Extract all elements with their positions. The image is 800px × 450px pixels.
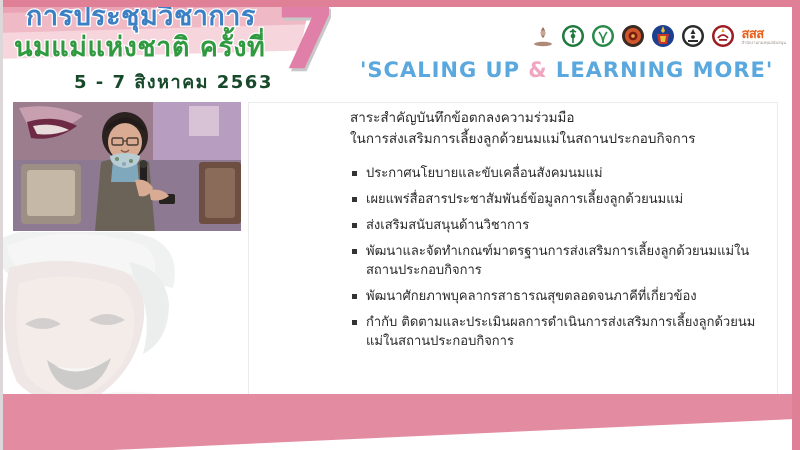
logo-royal-seal-icon bbox=[531, 24, 555, 48]
frame-border-top bbox=[0, 0, 800, 7]
footer-decorative-band bbox=[0, 394, 800, 450]
content-lead-line2: ในการส่งเสริมการเลี้ยงลูกด้วยนมแม่ในสถาน… bbox=[350, 129, 770, 150]
frame-border-left bbox=[0, 0, 3, 450]
logo-department-health-icon bbox=[591, 24, 615, 48]
logo-breastfeeding-center-icon bbox=[711, 24, 735, 48]
tagline-ampersand: & bbox=[528, 58, 547, 82]
content-lead: สาระสำคัญบันทึกข้อตกลงความร่วมมือ ในการส… bbox=[350, 108, 770, 150]
logo-royal-college-icon bbox=[651, 24, 675, 48]
conference-tagline: 'SCALING UP & LEARNING MORE' bbox=[360, 58, 773, 82]
presentation-slide: 7 การประชุมวิชาการ นมแม่แห่งชาติ ครั้งที… bbox=[0, 0, 800, 450]
logo-nursing-council-icon bbox=[681, 24, 705, 48]
speaker-photo bbox=[13, 102, 241, 231]
conference-title-block: การประชุมวิชาการ นมแม่แห่งชาติ ครั้งที่ … bbox=[14, 2, 273, 96]
logo-thaihealth-icon: สสส สำนักงานกองทุนสนับสนุน bbox=[741, 28, 786, 45]
conference-edition-number: 7 bbox=[276, 0, 334, 82]
conference-date: 5 - 7 สิงหาคม 2563 bbox=[74, 67, 273, 96]
footer-band-dark bbox=[0, 394, 800, 450]
tagline-part2: LEARNING MORE' bbox=[548, 58, 774, 82]
logo-ministry-public-health-icon bbox=[561, 24, 585, 48]
list-item: กำกับ ติดตามและประเมินผลการดำเนินการส่งเ… bbox=[350, 313, 770, 351]
content-bullet-list: ประกาศนโยบายและขับเคลื่อนสังคมนมแม่ เผยแ… bbox=[350, 164, 770, 351]
conference-title-line2: นมแม่แห่งชาติ ครั้งที่ bbox=[14, 33, 273, 63]
list-item: เผยแพร่สื่อสารประชาสัมพันธ์ข้อมูลการเลี้… bbox=[350, 190, 770, 209]
frame-border-right bbox=[792, 0, 800, 450]
logo-thaihealth-subtext: สำนักงานกองทุนสนับสนุน bbox=[741, 41, 786, 45]
list-item: ส่งเสริมสนับสนุนด้านวิชาการ bbox=[350, 216, 770, 235]
list-item: พัฒนาและจัดทำเกณฑ์มาตรฐานการส่งเสริมการเ… bbox=[350, 242, 770, 280]
list-item: พัฒนาศักยภาพบุคลากรสาธารณสุขตลอดจนภาคีที… bbox=[350, 287, 770, 306]
slide-header: 7 การประชุมวิชาการ นมแม่แห่งชาติ ครั้งที… bbox=[0, 0, 800, 96]
content-lead-line1: สาระสำคัญบันทึกข้อตกลงความร่วมมือ bbox=[350, 108, 770, 129]
logo-thai-pediatric-icon bbox=[621, 24, 645, 48]
sponsor-logo-strip: สสส สำนักงานกองทุนสนับสนุน bbox=[531, 24, 786, 48]
content-text-block: สาระสำคัญบันทึกข้อตกลงความร่วมมือ ในการส… bbox=[350, 108, 770, 358]
list-item: ประกาศนโยบายและขับเคลื่อนสังคมนมแม่ bbox=[350, 164, 770, 183]
tagline-part1: 'SCALING UP bbox=[360, 58, 528, 82]
